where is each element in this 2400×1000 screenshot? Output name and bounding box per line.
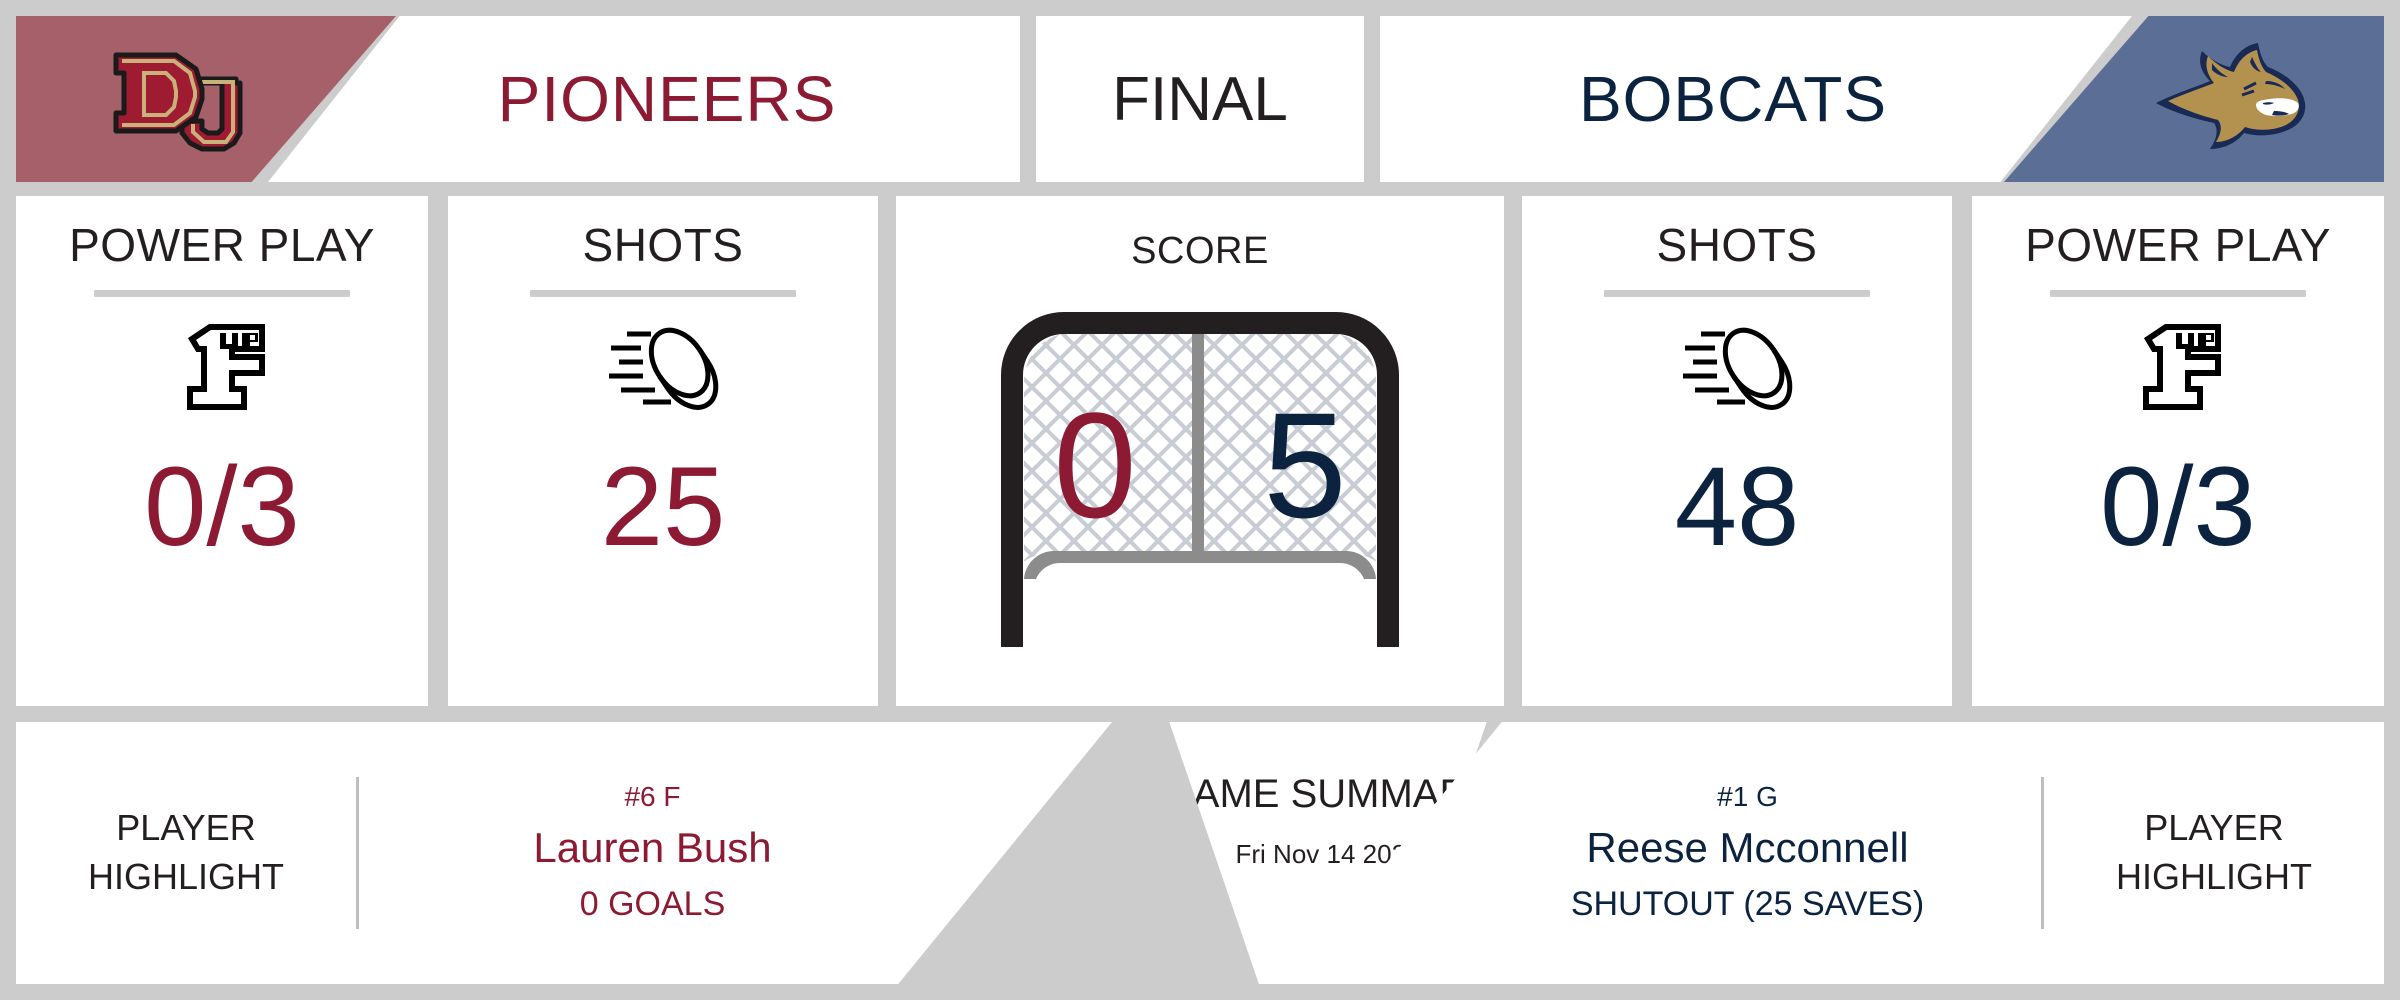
home-shots-panel: SHOTS 25 <box>448 196 878 706</box>
home-team-name-panel: PIONEERS <box>268 16 1020 182</box>
game-status-panel: FINAL <box>1036 16 1364 182</box>
home-team-name: PIONEERS <box>498 62 837 136</box>
one-up-icon <box>2130 321 2226 413</box>
home-score: 0 <box>990 289 1200 599</box>
home-power-play-value: 0/3 <box>144 451 300 563</box>
away-highlight-label: PLAYER HIGHLIGHT <box>2044 804 2384 901</box>
score-label: SCORE <box>1131 230 1269 273</box>
away-highlight-label-line2: HIGHLIGHT <box>2044 853 2384 902</box>
divider-rule <box>1604 290 1871 297</box>
home-highlight-label-line2: HIGHLIGHT <box>16 853 356 902</box>
score-digits: 0 5 <box>990 289 1410 599</box>
away-team-name: BOBCATS <box>1579 62 1887 136</box>
away-power-play-value: 0/3 <box>2100 451 2256 563</box>
bobcat-head-logo-icon <box>2070 37 2318 162</box>
home-power-play-label: POWER PLAY <box>69 218 375 272</box>
away-player-name: Reese Mcconnell <box>1464 818 2031 879</box>
away-player-number-position: #1 G <box>1464 776 2031 818</box>
away-shots-value: 48 <box>1675 451 1800 563</box>
home-shots-value: 25 <box>601 451 726 563</box>
away-shots-panel: SHOTS 48 <box>1522 196 1952 706</box>
away-highlight-label-line1: PLAYER <box>2044 804 2384 853</box>
home-player-stat: 0 GOALS <box>369 879 936 930</box>
home-power-play-panel: POWER PLAY 0/3 <box>16 196 428 706</box>
home-player-info[interactable]: #6 F Lauren Bush 0 GOALS <box>359 776 946 930</box>
flying-puck-icon <box>1673 321 1801 413</box>
away-player-stat: SHUTOUT (25 SAVES) <box>1464 879 2031 930</box>
divider-rule <box>2050 290 2305 297</box>
home-player-highlight-panel: PLAYER HIGHLIGHT #6 F Lauren Bush 0 GOAL… <box>16 722 1112 984</box>
home-highlight-label-line1: PLAYER <box>16 804 356 853</box>
home-player-name: Lauren Bush <box>369 818 936 879</box>
flying-puck-icon <box>599 321 727 413</box>
home-player-number-position: #6 F <box>369 776 936 818</box>
home-shots-label: SHOTS <box>583 218 744 272</box>
away-team-name-panel: BOBCATS <box>1380 16 2132 182</box>
score-panel: SCORE <box>896 196 1504 706</box>
away-power-play-label: POWER PLAY <box>2025 218 2331 272</box>
away-score: 5 <box>1200 289 1410 599</box>
hockey-net-icon: 0 5 <box>990 289 1410 659</box>
one-up-icon <box>174 321 270 413</box>
scoreboard-root: PIONEERS FINAL BOBCATS <box>0 0 2400 1000</box>
divider-rule <box>94 290 349 297</box>
home-highlight-label: PLAYER HIGHLIGHT <box>16 804 356 901</box>
away-player-info[interactable]: #1 G Reese Mcconnell SHUTOUT (25 SAVES) <box>1454 776 2041 930</box>
game-status-text: FINAL <box>1112 64 1288 135</box>
divider-rule <box>530 290 797 297</box>
away-shots-label: SHOTS <box>1657 218 1818 272</box>
du-monogram-logo-icon <box>164 37 248 162</box>
away-power-play-panel: POWER PLAY 0/3 <box>1972 196 2384 706</box>
